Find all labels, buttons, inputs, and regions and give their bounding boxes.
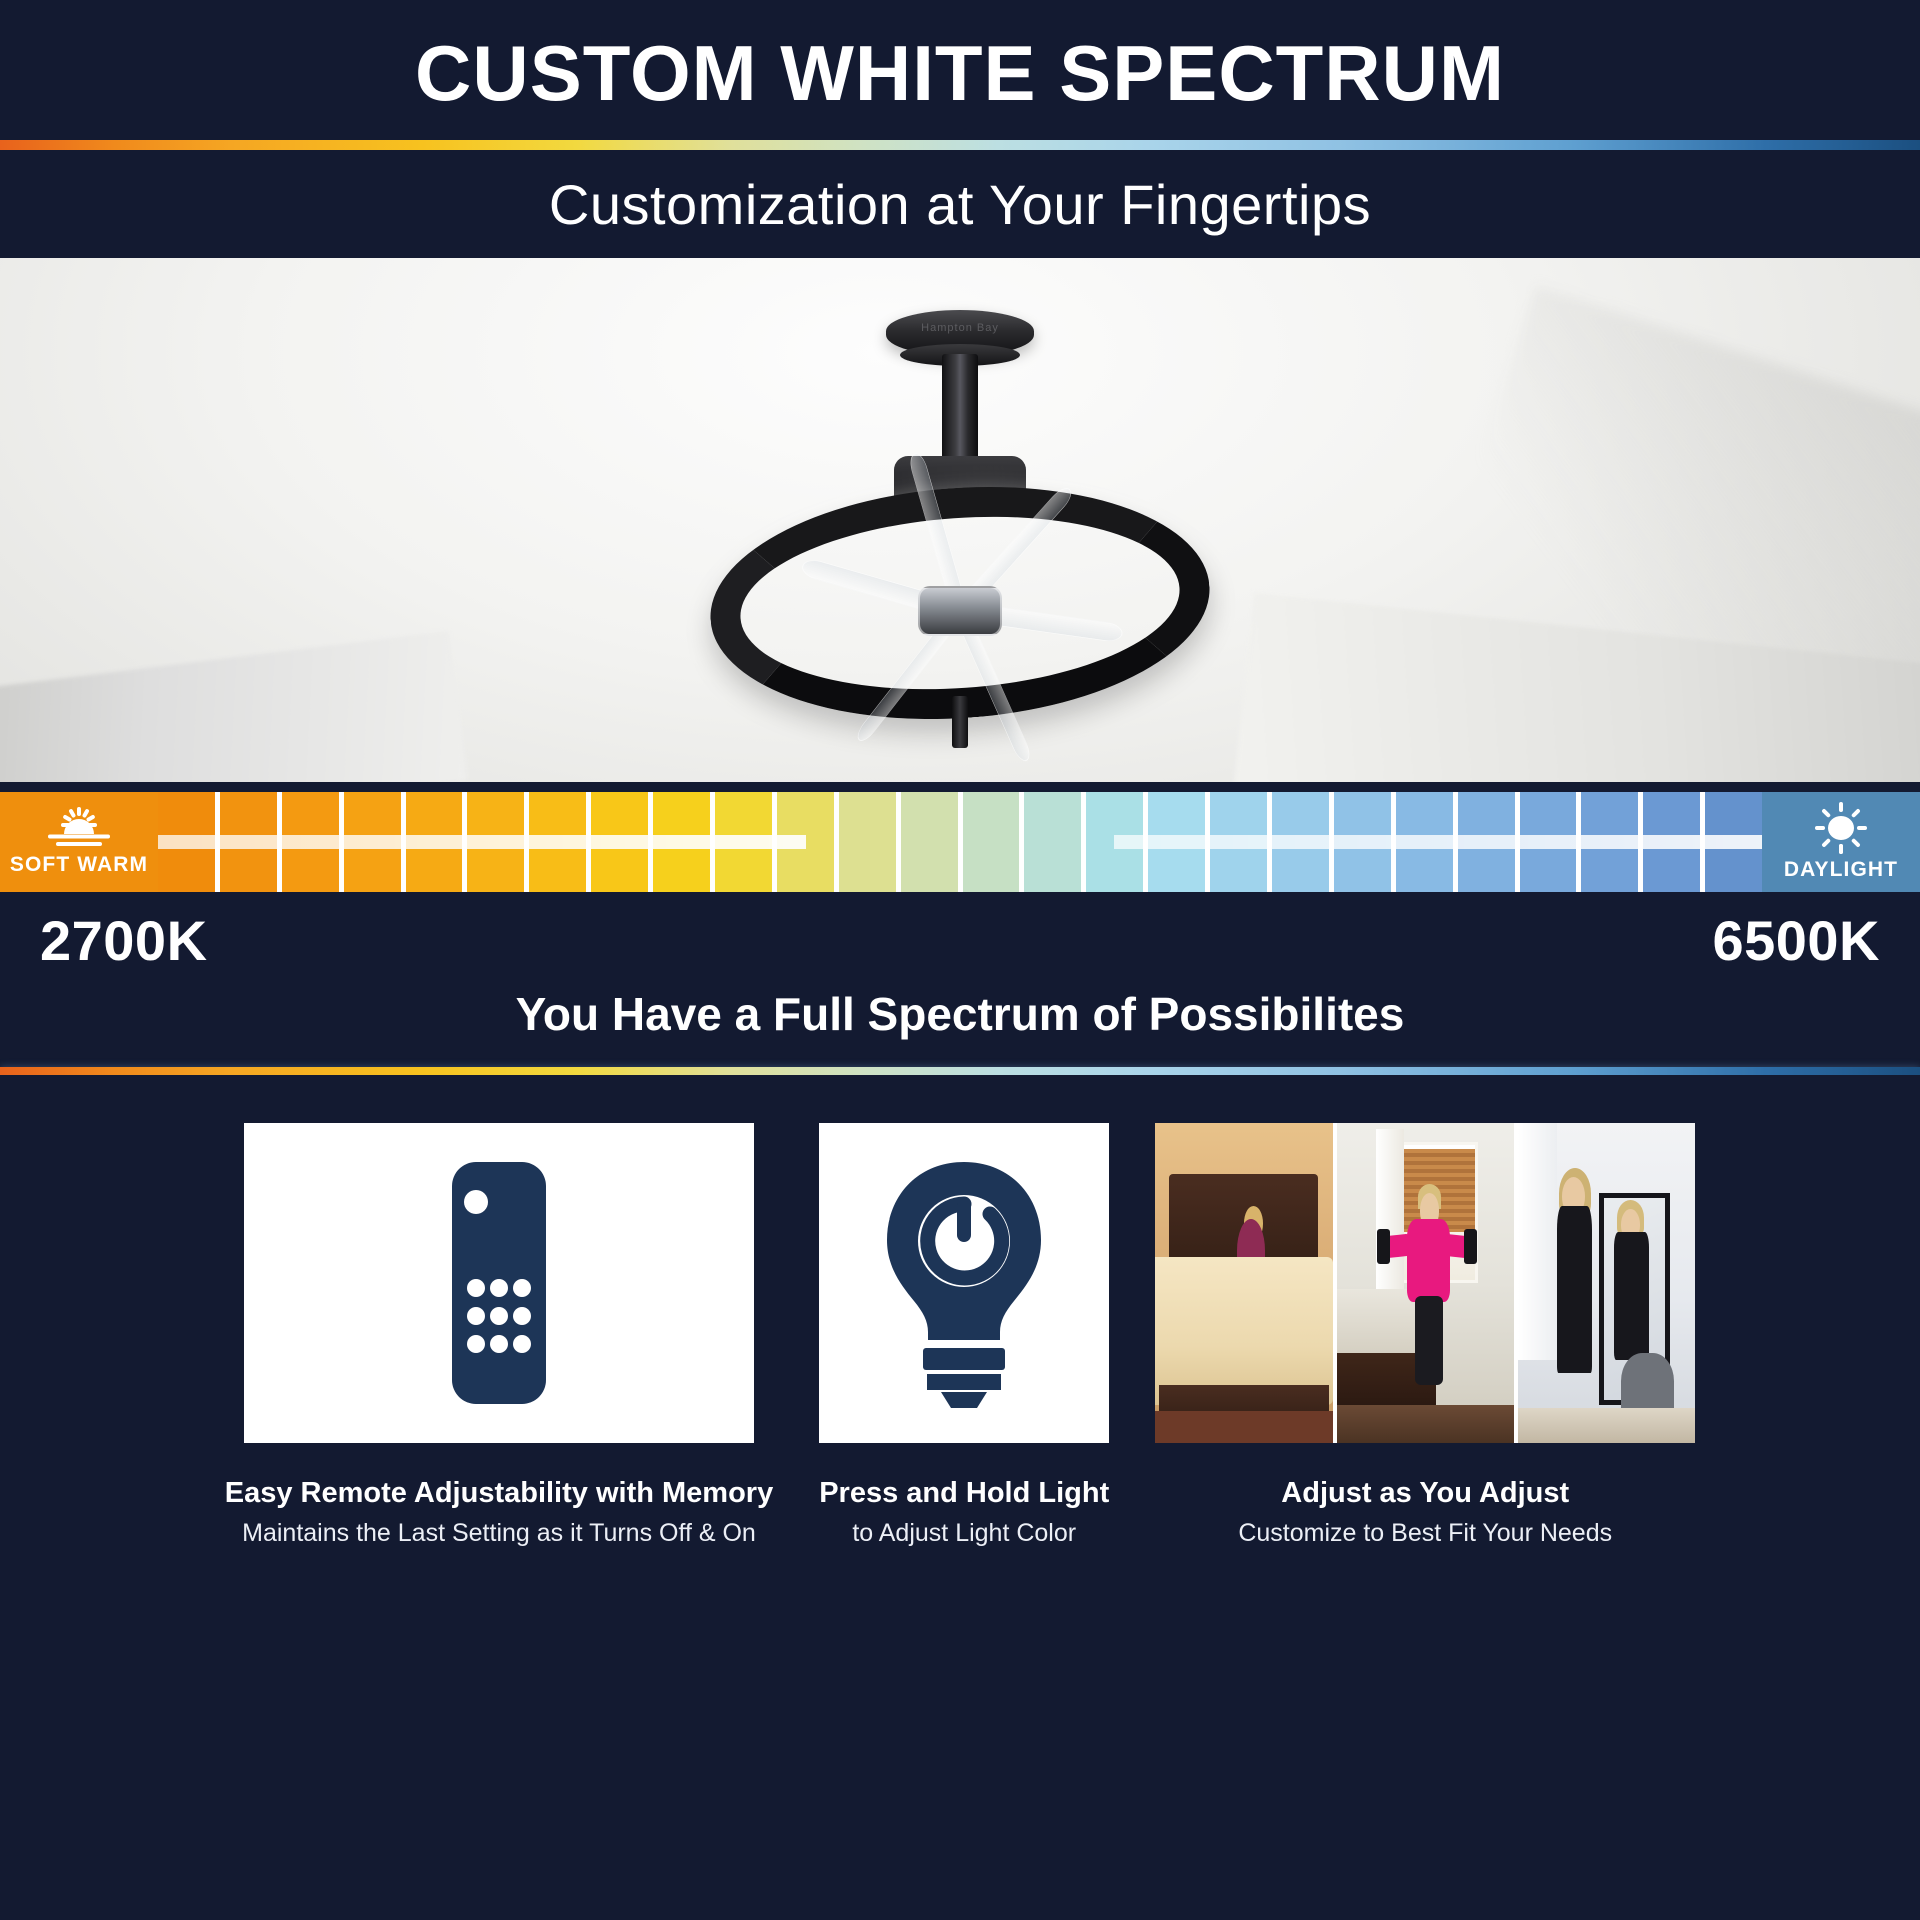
spectrum-swatch xyxy=(1024,792,1086,892)
fan-lower-stem xyxy=(952,696,968,748)
page-title: CUSTOM WHITE SPECTRUM xyxy=(415,28,1505,112)
spectrum-swatch xyxy=(839,792,901,892)
fan-downrod xyxy=(942,354,978,472)
kelvin-min-label: 2700K xyxy=(40,908,208,973)
feature-title: Press and Hold Light xyxy=(819,1477,1109,1510)
spectrum-swatch xyxy=(1458,792,1520,892)
spectrum-swatches xyxy=(158,792,1762,892)
person-legs xyxy=(1415,1296,1443,1386)
floor xyxy=(1337,1405,1514,1443)
tagline-row: You Have a Full Spectrum of Possibilites xyxy=(0,977,1920,1067)
page-subtitle: Customization at Your Fingertips xyxy=(549,172,1371,237)
daylight-label: DAYLIGHT xyxy=(1784,858,1898,882)
curtain xyxy=(1518,1123,1557,1360)
header-banner: CUSTOM WHITE SPECTRUM xyxy=(0,0,1920,140)
spectrum-swatch xyxy=(1086,792,1148,892)
spectrum-swatch xyxy=(777,792,839,892)
spectrum-swatch xyxy=(220,792,282,892)
lifestyle-collage xyxy=(1155,1123,1695,1443)
dumbbell-left xyxy=(1377,1229,1389,1264)
daylight-endcap: DAYLIGHT xyxy=(1762,792,1920,892)
person-torso xyxy=(1407,1219,1450,1302)
kelvin-range-row: 2700K 6500K xyxy=(0,892,1920,977)
spectrum-swatch xyxy=(1581,792,1643,892)
reflection-body xyxy=(1614,1232,1649,1360)
hero-product-photo: Hampton Bay xyxy=(0,258,1920,782)
feature-title: Easy Remote Adjustability with Memory xyxy=(225,1477,773,1510)
dumbbell-right xyxy=(1464,1229,1476,1264)
feature-press-hold: Press and Hold Light to Adjust Light Col… xyxy=(819,1123,1109,1548)
sun-icon xyxy=(1810,802,1872,854)
spectrum-swatch xyxy=(467,792,529,892)
spectrum-swatch xyxy=(1643,792,1705,892)
feature-subtitle: to Adjust Light Color xyxy=(852,1519,1076,1548)
spectrum-tagline: You Have a Full Spectrum of Possibilites xyxy=(0,987,1920,1041)
spectrum-swatch xyxy=(1210,792,1272,892)
feature-remote: Easy Remote Adjustability with Memory Ma… xyxy=(225,1123,773,1548)
accent-divider-bottom xyxy=(0,1067,1920,1075)
spectrum-swatch xyxy=(529,792,591,892)
brand-emboss: Hampton Bay xyxy=(921,322,999,334)
soft-warm-label: SOFT WARM xyxy=(10,853,148,877)
feature-subtitle: Maintains the Last Setting as it Turns O… xyxy=(242,1519,756,1548)
person-body xyxy=(1557,1206,1592,1372)
feature-icon-card xyxy=(244,1123,754,1443)
accent-divider-top xyxy=(0,140,1920,150)
spectrum-swatch xyxy=(344,792,406,892)
light-bulb-power-icon xyxy=(869,1156,1059,1411)
spectrum-swatch xyxy=(158,792,220,892)
spectrum-swatch xyxy=(1520,792,1582,892)
feature-lifestyle: Adjust as You Adjust Customize to Best F… xyxy=(1155,1123,1695,1548)
spectrum-swatch xyxy=(1272,792,1334,892)
remote-control-icon xyxy=(424,1158,574,1408)
collage-pane-bedroom xyxy=(1155,1123,1336,1443)
spectrum-swatch xyxy=(901,792,963,892)
fan-hub xyxy=(918,586,1002,636)
spectrum-swatch xyxy=(1334,792,1396,892)
subheader-banner: Customization at Your Fingertips xyxy=(0,150,1920,258)
rug xyxy=(1155,1411,1332,1443)
soft-warm-endcap: SOFT WARM xyxy=(0,792,158,892)
bed xyxy=(1155,1257,1332,1404)
features-row: Easy Remote Adjustability with Memory Ma… xyxy=(0,1075,1920,1548)
spectrum-swatch xyxy=(715,792,777,892)
sunrise-icon xyxy=(42,807,116,849)
feature-title: Adjust as You Adjust xyxy=(1281,1477,1569,1510)
floor xyxy=(1518,1408,1695,1443)
feature-photo-card xyxy=(1155,1123,1695,1443)
collage-pane-mirror xyxy=(1518,1123,1695,1443)
spectrum-swatch xyxy=(963,792,1025,892)
spectrum-swatch xyxy=(591,792,653,892)
spectrum-section: SOFT WARM xyxy=(0,782,1920,1067)
feature-icon-card xyxy=(819,1123,1109,1443)
collage-pane-exercise xyxy=(1337,1123,1518,1443)
spectrum-swatch xyxy=(406,792,468,892)
feature-subtitle: Customize to Best Fit Your Needs xyxy=(1238,1519,1612,1548)
spectrum-swatch xyxy=(653,792,715,892)
kelvin-max-label: 6500K xyxy=(1712,908,1880,973)
spectrum-swatch xyxy=(1396,792,1458,892)
fan-blades xyxy=(765,526,1155,696)
spectrum-swatch xyxy=(282,792,344,892)
spectrum-swatch xyxy=(1148,792,1210,892)
spectrum-swatch xyxy=(1705,792,1762,892)
color-temperature-bar: SOFT WARM xyxy=(0,792,1920,892)
ceiling-fan: Hampton Bay xyxy=(680,288,1240,758)
